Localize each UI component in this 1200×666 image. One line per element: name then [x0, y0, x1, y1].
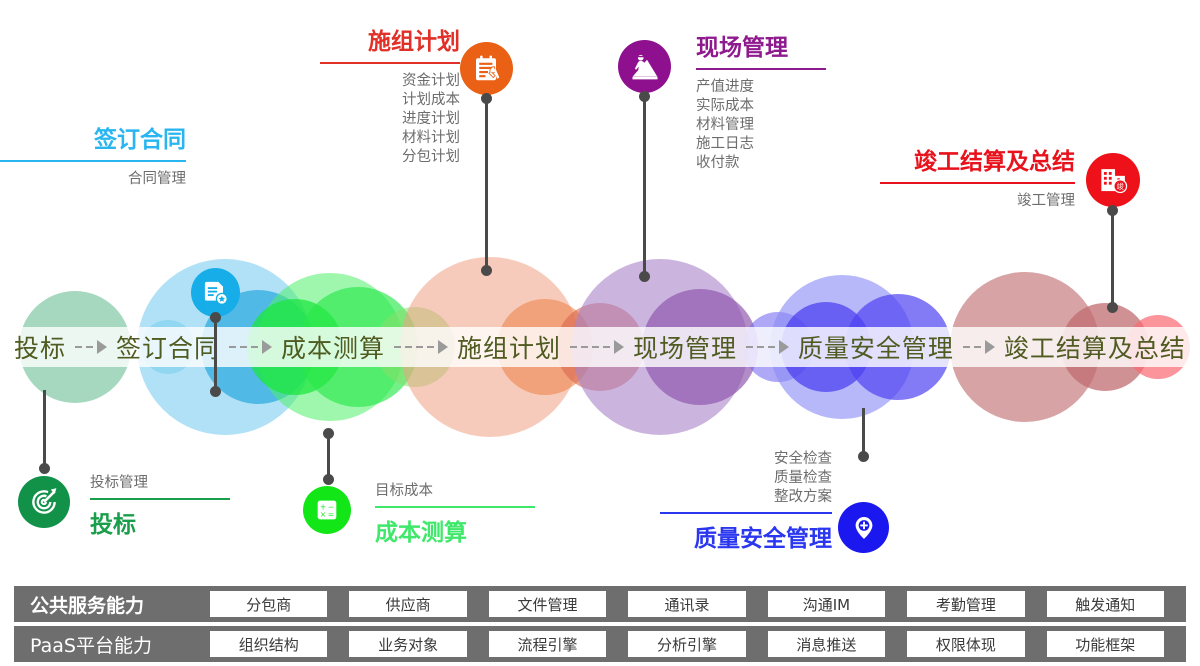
timeline-arrowhead-icon — [438, 340, 448, 354]
callout-completion-stem — [1111, 210, 1114, 308]
process-timeline-stages: 投标签订合同成本测算施组计划现场管理质量安全管理竣工结算及总结 — [0, 329, 1200, 365]
capability-cell-1-5[interactable]: 权限体现 — [907, 631, 1024, 657]
callout-plan-title: 施组计划 — [320, 22, 460, 56]
calculator-icon[interactable]: + − × = — [303, 486, 351, 534]
timeline-arrow-2 — [394, 340, 448, 354]
timeline-dash — [416, 346, 423, 348]
callout-site-knob-bottom — [639, 271, 650, 282]
timeline-dash — [768, 346, 775, 348]
callout-contract-knob-top — [210, 312, 221, 323]
timeline-stage-2[interactable]: 成本测算 — [281, 329, 385, 365]
callout-contract-title: 签订合同 — [0, 120, 186, 154]
timeline-arrowhead-icon — [262, 340, 272, 354]
timeline-arrow-5 — [963, 340, 995, 354]
callout-bid-stem — [43, 390, 46, 468]
callout-quality-knob-bottom — [858, 451, 869, 462]
callout-site-rule — [696, 68, 826, 70]
timeline-stage-4[interactable]: 现场管理 — [633, 329, 737, 365]
callout-completion-rule — [880, 182, 1075, 184]
callout-bid-knob-bottom — [39, 463, 50, 474]
timeline-dash — [570, 346, 577, 348]
callout-cost-item-0: 目标成本 — [375, 482, 535, 501]
capability-cell-1-3[interactable]: 分析引擎 — [628, 631, 745, 657]
capability-row-label-1: PaaS平台能力 — [14, 631, 210, 658]
timeline-arrowhead-icon — [779, 340, 789, 354]
callout-bid-title: 投标 — [90, 505, 230, 539]
timeline-dash — [974, 346, 981, 348]
svg-text:竣: 竣 — [1116, 181, 1123, 190]
callout-plan-item-1: 计划成本 — [320, 91, 460, 110]
callout-quality-item-1: 质量检查 — [660, 469, 832, 488]
callout-site-title: 现场管理 — [696, 28, 826, 62]
timeline-arrowhead-icon — [985, 340, 995, 354]
target-arrow-icon[interactable] — [18, 476, 70, 528]
callout-site-item-3: 施工日志 — [696, 135, 826, 154]
callout-plan-knob-top — [481, 93, 492, 104]
timeline-stage-6[interactable]: 竣工结算及总结 — [1004, 329, 1186, 365]
timeline-arrowhead-icon — [614, 340, 624, 354]
timeline-arrow-3 — [570, 340, 624, 354]
timeline-dash — [757, 346, 764, 348]
callout-bid-rule — [90, 498, 230, 500]
timeline-dash — [427, 346, 434, 348]
callout-contract-item-0: 合同管理 — [0, 170, 186, 189]
capability-cell-1-0[interactable]: 组织结构 — [210, 631, 327, 657]
callout-plan-stem — [485, 98, 488, 272]
callout-cost-title: 成本测算 — [375, 513, 535, 547]
infographic-canvas: 投标签订合同成本测算施组计划现场管理质量安全管理竣工结算及总结 签订合同 合同管… — [0, 0, 1200, 666]
timeline-dash — [251, 346, 258, 348]
callout-quality-stem — [862, 408, 865, 456]
callout-completion-item-0: 竣工管理 — [880, 192, 1075, 211]
capability-cell-0-5[interactable]: 考勤管理 — [907, 591, 1024, 617]
callout-contract[interactable]: 签订合同 合同管理 — [0, 120, 280, 310]
callout-plan-text: 施组计划 资金计划 计划成本 进度计划 材料计划 分包计划 — [320, 22, 460, 167]
timeline-arrow-4 — [746, 340, 789, 354]
construction-worker-icon[interactable] — [618, 40, 671, 93]
capability-cell-0-3[interactable]: 通讯录 — [628, 591, 745, 617]
timeline-stage-5[interactable]: 质量安全管理 — [798, 329, 954, 365]
callout-completion-title: 竣工结算及总结 — [880, 142, 1075, 176]
callout-bid-item-0: 投标管理 — [90, 474, 230, 493]
callout-site-item-4: 收付款 — [696, 154, 826, 173]
capability-row-0: 公共服务能力分包商供应商文件管理通讯录沟通IM考勤管理触发通知 — [14, 586, 1186, 622]
callout-contract-stem — [214, 317, 217, 393]
callout-plan-item-0: 资金计划 — [320, 72, 460, 91]
callout-cost-knob-top — [323, 428, 334, 439]
callout-plan-item-2: 进度计划 — [320, 110, 460, 129]
capability-cell-0-1[interactable]: 供应商 — [349, 591, 466, 617]
timeline-stage-0[interactable]: 投标 — [14, 329, 66, 365]
timeline-arrow-1 — [229, 340, 272, 354]
capability-table: 公共服务能力分包商供应商文件管理通讯录沟通IM考勤管理触发通知PaaS平台能力组… — [14, 586, 1186, 666]
timeline-arrow-0 — [75, 340, 107, 354]
timeline-arrowhead-icon — [97, 340, 107, 354]
timeline-stage-1[interactable]: 签订合同 — [116, 329, 220, 365]
callout-cost-stem — [327, 432, 330, 480]
callout-quality-item-2: 整改方案 — [660, 488, 832, 507]
callout-contract-rule — [0, 160, 186, 162]
callout-plan[interactable]: 施组计划 资金计划 计划成本 进度计划 材料计划 分包计划 — [320, 22, 550, 292]
capability-row-1: PaaS平台能力组织结构业务对象流程引擎分析引擎消息推送权限体现功能框架 — [14, 626, 1186, 662]
callout-plan-knob-bottom — [481, 265, 492, 276]
timeline-dash — [86, 346, 93, 348]
callout-bid-text: 投标管理 投标 — [90, 474, 230, 539]
callout-plan-item-3: 材料计划 — [320, 129, 460, 148]
callout-completion[interactable]: 竣工结算及总结 竣工管理 竣 — [880, 142, 1180, 312]
callout-quality-rule — [660, 512, 832, 514]
building-complete-icon[interactable]: 竣 — [1086, 153, 1140, 207]
capability-cells-1: 组织结构业务对象流程引擎分析引擎消息推送权限体现功能框架 — [210, 631, 1186, 657]
svg-text:×: × — [320, 510, 326, 519]
callout-site[interactable]: 现场管理 产值进度 实际成本 材料管理 施工日志 收付款 — [618, 28, 858, 298]
timeline-stage-3[interactable]: 施组计划 — [457, 329, 561, 365]
capability-row-label-0: 公共服务能力 — [14, 591, 210, 618]
callout-cost-knob-bottom — [323, 474, 334, 485]
capability-cell-1-4[interactable]: 消息推送 — [768, 631, 885, 657]
capability-cells-0: 分包商供应商文件管理通讯录沟通IM考勤管理触发通知 — [210, 591, 1186, 617]
callout-cost-rule — [375, 506, 535, 508]
callout-plan-item-4: 分包计划 — [320, 148, 460, 167]
timeline-dash — [75, 346, 82, 348]
callout-quality-item-0: 安全检查 — [660, 450, 832, 469]
timeline-dash — [394, 346, 401, 348]
timeline-dash — [581, 346, 588, 348]
callout-completion-knob-top — [1107, 205, 1118, 216]
callout-site-item-1: 实际成本 — [696, 97, 826, 116]
callout-cost[interactable]: + − × = 目标成本 成本测算 — [295, 424, 545, 554]
callout-site-knob-top — [639, 91, 650, 102]
capability-cell-0-2[interactable]: 文件管理 — [489, 591, 606, 617]
callout-site-stem — [643, 96, 646, 278]
clipboard-wrench-icon[interactable] — [460, 42, 513, 95]
callout-site-item-2: 材料管理 — [696, 116, 826, 135]
map-pin-plus-icon[interactable] — [838, 502, 889, 553]
timeline-dash — [592, 346, 599, 348]
callout-quality-title: 质量安全管理 — [660, 519, 832, 553]
timeline-dash — [405, 346, 412, 348]
capability-cell-0-4[interactable]: 沟通IM — [768, 591, 885, 617]
callout-plan-rule — [320, 62, 460, 64]
timeline-dash — [746, 346, 753, 348]
capability-cell-0-0[interactable]: 分包商 — [210, 591, 327, 617]
timeline-dash — [240, 346, 247, 348]
svg-text:=: = — [328, 510, 334, 519]
process-timeline-band: 投标签订合同成本测算施组计划现场管理质量安全管理竣工结算及总结 — [0, 327, 1200, 367]
callout-quality[interactable]: 安全检查 质量检查 整改方案 质量安全管理 — [660, 408, 900, 568]
timeline-dash — [963, 346, 970, 348]
callout-quality-text: 安全检查 质量检查 整改方案 质量安全管理 — [660, 450, 832, 553]
callout-bid[interactable]: 投标管理 投标 — [10, 390, 250, 550]
capability-cell-1-1[interactable]: 业务对象 — [349, 631, 466, 657]
callout-site-item-0: 产值进度 — [696, 78, 826, 97]
callout-cost-text: 目标成本 成本测算 — [375, 482, 535, 547]
capability-cell-0-6[interactable]: 触发通知 — [1047, 591, 1164, 617]
callout-contract-text: 签订合同 合同管理 — [0, 120, 186, 189]
timeline-dash — [229, 346, 236, 348]
callout-completion-text: 竣工结算及总结 竣工管理 — [880, 142, 1075, 211]
callout-site-text: 现场管理 产值进度 实际成本 材料管理 施工日志 收付款 — [696, 28, 826, 173]
capability-cell-1-2[interactable]: 流程引擎 — [489, 631, 606, 657]
callout-completion-knob-bottom — [1107, 302, 1118, 313]
timeline-dash — [603, 346, 610, 348]
capability-cell-1-6[interactable]: 功能框架 — [1047, 631, 1164, 657]
contract-document-icon[interactable] — [191, 268, 240, 317]
